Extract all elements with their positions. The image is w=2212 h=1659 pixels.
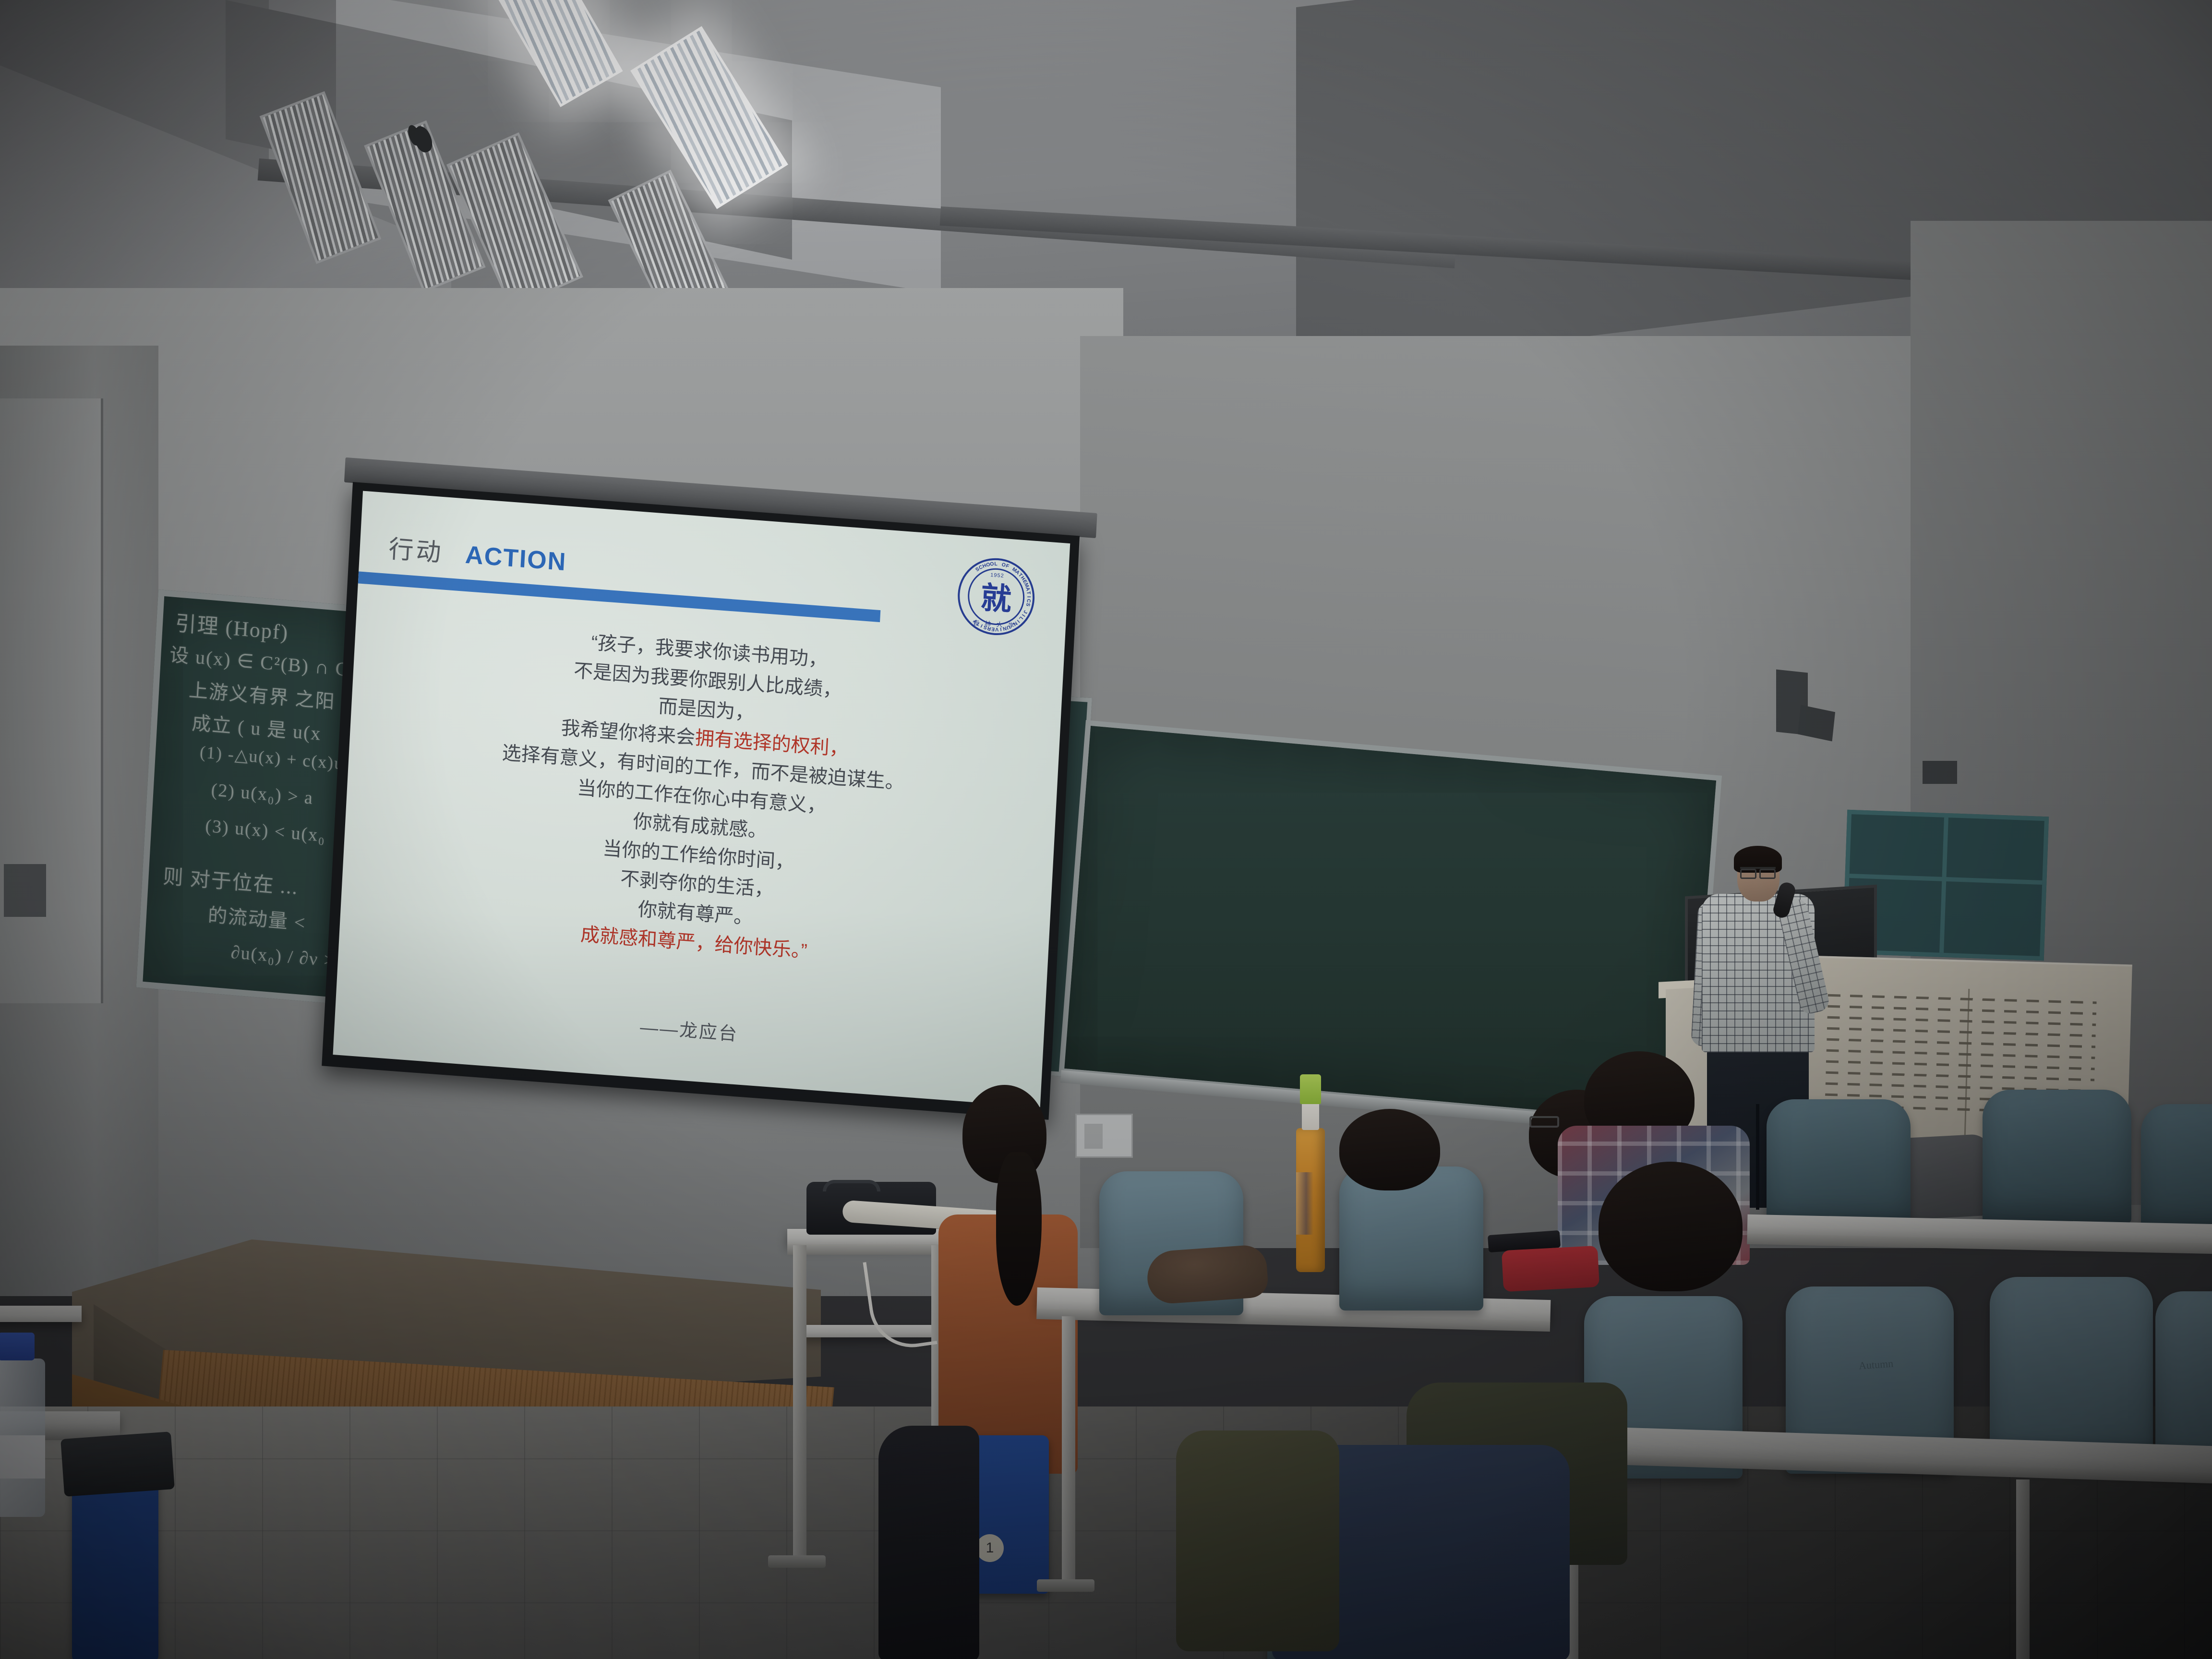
slide-title-cn: 行动 [388, 529, 445, 568]
water-bottle [0, 1358, 45, 1517]
seat-graffiti: Autumn [1858, 1358, 1894, 1372]
brown-hat [1145, 1244, 1269, 1305]
juice-bottle [1296, 1128, 1325, 1272]
slide-title: 行动 ACTION [388, 529, 567, 577]
glasses-icon [1740, 867, 1776, 874]
logo-glyph: 就 [980, 582, 1012, 615]
seat-number: 1 [976, 1534, 1004, 1562]
chalk-line: (3) u(x) < u(x₀ [204, 816, 326, 847]
desk-foot [768, 1555, 826, 1568]
desk-leg [1062, 1316, 1075, 1585]
student-legs [878, 1426, 979, 1659]
lecturer-leg-split [1756, 1104, 1759, 1210]
slide-attribution: ——龙应台 [335, 989, 1044, 1068]
seat[interactable] [2141, 1104, 2212, 1234]
seat[interactable] [1767, 1099, 1911, 1229]
desk-foot [1037, 1579, 1094, 1592]
student-head [1339, 1109, 1440, 1190]
chalk-line: (1) -△u(x) + c(x)u [199, 742, 344, 774]
chalk-line: 的流动量 < [207, 900, 307, 936]
seat[interactable] [1339, 1166, 1483, 1310]
lecture-hall-scene: 引理 (Hopf) 设 u(x) ∈ C²(B) ∩ C 上游义有界 之阳 成立… [0, 0, 2212, 1659]
seat[interactable] [1983, 1090, 2131, 1224]
wall-plate [1923, 761, 1957, 784]
desk-leg [793, 1245, 806, 1562]
desk-leg [2016, 1479, 2030, 1659]
chalk-line: (2) u(x₀) > a [211, 779, 314, 808]
chalk-line: 上游义有界 之阳 [188, 674, 336, 714]
olive-backpack [1176, 1431, 1339, 1651]
slide-accent-bar [358, 571, 881, 622]
student-head [1599, 1162, 1743, 1291]
wall-speaker-icon [1776, 670, 1808, 735]
slide-title-en: ACTION [465, 541, 567, 577]
desk-foreground-left-upper [0, 1306, 82, 1322]
seat[interactable] [1990, 1277, 2153, 1464]
projection-screen-assembly: 行动 ACTION SCHOOL OF MATHEMATICS JILIN UN… [320, 482, 1080, 1145]
wall-outlet [1075, 1114, 1133, 1158]
seat-armrest [60, 1431, 175, 1497]
chalk-line: 则 对于位在 ... [162, 860, 299, 901]
projection-screen: 行动 ACTION SCHOOL OF MATHEMATICS JILIN UN… [322, 482, 1080, 1120]
chalk-line: 成立 ( u 是 u(x [191, 708, 322, 746]
slide-canvas: 行动 ACTION SCHOOL OF MATHEMATICS JILIN UN… [333, 491, 1070, 1107]
wall-notice-plate [4, 864, 46, 917]
chalk-line: 引理 (Hopf) [175, 606, 290, 646]
red-pencil-case [1502, 1246, 1599, 1292]
slide-quote-body: “孩子，我要求你读书用功， 不是因为我要你跟别人比成绩， 而是因为， 我希望你将… [339, 611, 1064, 984]
university-logo-icon: SCHOOL OF MATHEMATICS JILIN UNIVERSITY 1… [956, 555, 1036, 638]
glasses-icon [1529, 1116, 1559, 1128]
white-cable [863, 1254, 937, 1353]
